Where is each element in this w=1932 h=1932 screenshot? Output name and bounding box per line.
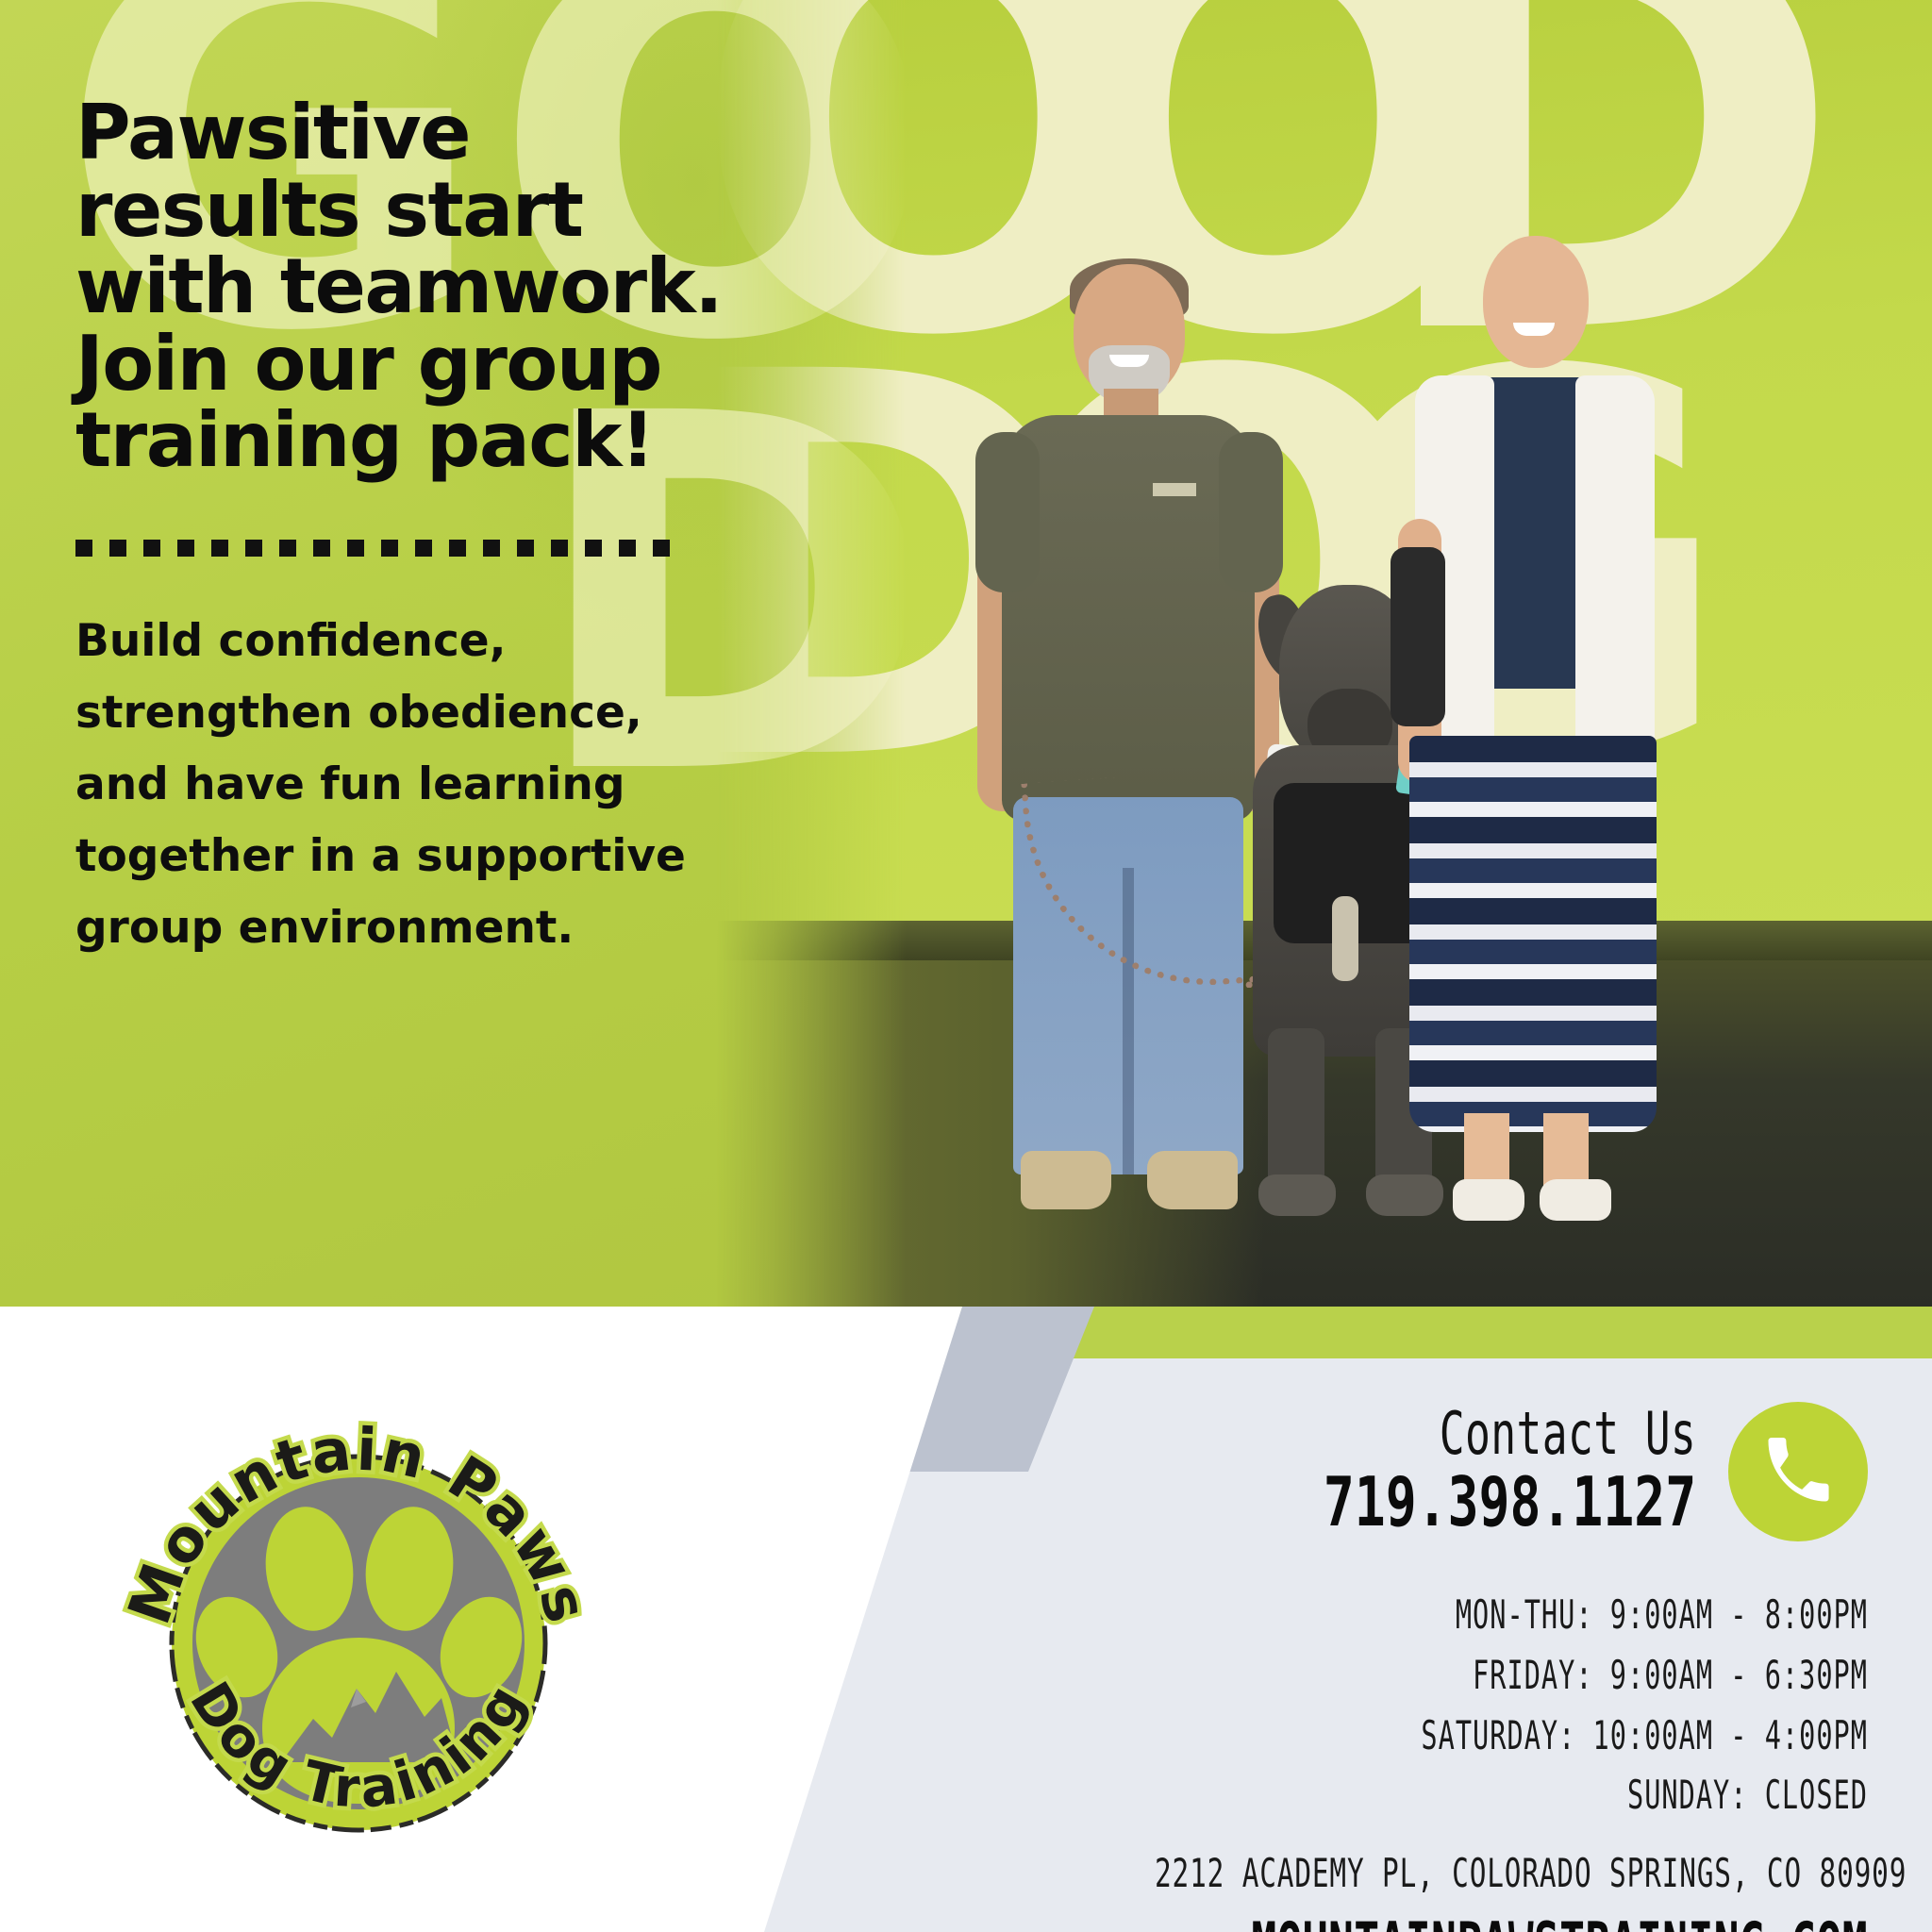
woman-patterned-skirt bbox=[1409, 736, 1657, 1132]
man-right-sleeve bbox=[1219, 432, 1283, 592]
woman-right-sandal bbox=[1540, 1179, 1611, 1221]
contact-heading: Contact Us bbox=[1342, 1403, 1696, 1464]
person-woman bbox=[1377, 236, 1689, 1217]
woman-cardigan-right bbox=[1575, 375, 1655, 781]
business-hours: MON-THU: 9:00AM - 8:00PM FRIDAY: 9:00AM … bbox=[849, 1585, 1868, 1825]
contact-text-group: Contact Us 719.398.1127 bbox=[1206, 1403, 1696, 1541]
woman-left-sandal bbox=[1453, 1179, 1524, 1221]
man-smile bbox=[1109, 355, 1149, 367]
woman-head bbox=[1483, 236, 1589, 368]
phone-icon[interactable] bbox=[1728, 1402, 1868, 1541]
man-shirt-pocket bbox=[1153, 483, 1196, 496]
woman-arm-brace bbox=[1391, 547, 1445, 726]
dog-chest-marking bbox=[1332, 896, 1358, 981]
dotted-divider bbox=[75, 540, 679, 557]
flyer-canvas: G O O D D O G O O D D O G bbox=[0, 0, 1932, 1932]
headline: Pawsitive results start with teamwork. J… bbox=[75, 94, 755, 479]
contact-block: Contact Us 719.398.1127 MON-THU: 9:00AM … bbox=[849, 1402, 1868, 1932]
man-left-boot bbox=[1021, 1151, 1111, 1209]
website-url[interactable]: MOUNTAINPAWSTRAINING.COM bbox=[1134, 1909, 1868, 1932]
hours-line-3: SUNDAY: CLOSED bbox=[1175, 1765, 1868, 1825]
street-address: 2212 ACADEMY PL, COLORADO SPRINGS, CO 80… bbox=[1155, 1850, 1868, 1896]
hero-copy-block: Pawsitive results start with teamwork. J… bbox=[75, 94, 755, 965]
dog-left-paw bbox=[1258, 1174, 1336, 1216]
hours-line-0: MON-THU: 9:00AM - 8:00PM bbox=[1175, 1585, 1868, 1645]
hours-line-2: SATURDAY: 10:00AM - 4:00PM bbox=[1175, 1706, 1868, 1766]
brand-logo[interactable]: Mountain Paws Dog Training bbox=[113, 1377, 604, 1877]
dog-left-leg bbox=[1268, 1028, 1324, 1198]
man-left-sleeve bbox=[975, 432, 1040, 592]
hero-photo: O O D D O G bbox=[717, 0, 1932, 1307]
body-copy: Build confidence, strengthen obedience, … bbox=[75, 606, 698, 965]
phone-number[interactable]: 719.398.1127 bbox=[1324, 1464, 1696, 1541]
contact-headline-row: Contact Us 719.398.1127 bbox=[849, 1402, 1868, 1541]
hours-line-1: FRIDAY: 9:00AM - 6:30PM bbox=[1175, 1645, 1868, 1706]
